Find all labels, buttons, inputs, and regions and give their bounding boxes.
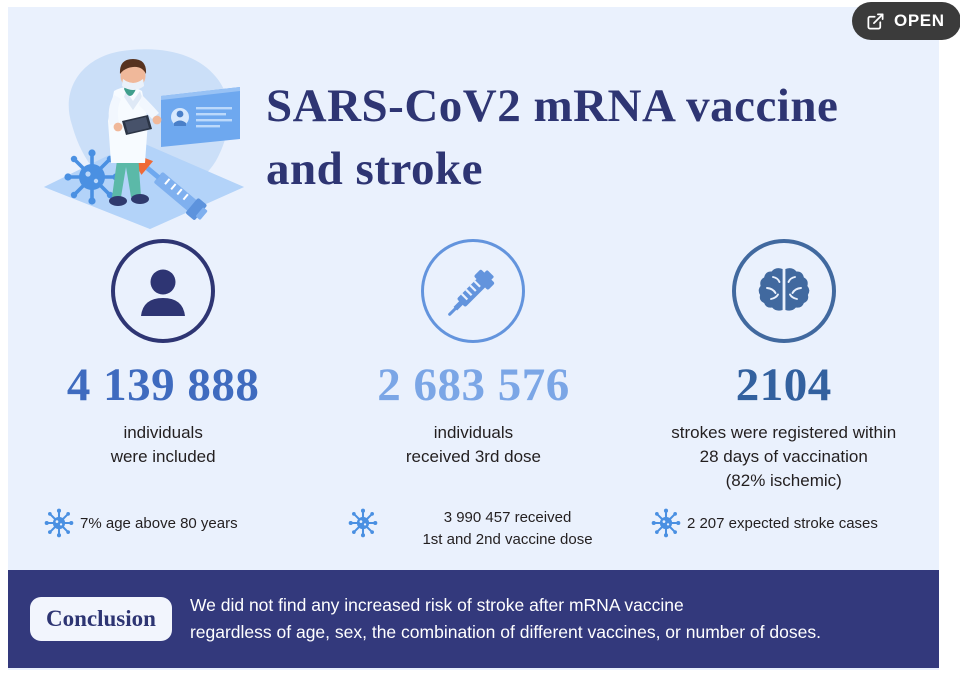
stat-value: 2104 xyxy=(736,362,832,409)
title-line-2: and stroke xyxy=(266,138,926,201)
stat-caption-line-3: (82% ischemic) xyxy=(671,469,896,493)
conclusion-bar: Conclusion We did not find any increased… xyxy=(8,570,939,668)
stat-strokes-registered: 2104 strokes were registered within 28 d… xyxy=(629,239,939,493)
page-title: SARS-CoV2 mRNA vaccine and stroke xyxy=(266,75,926,200)
conclusion-line-1: We did not find any increased risk of st… xyxy=(190,592,821,619)
title-line-1: SARS-CoV2 mRNA vaccine xyxy=(266,75,926,138)
virus-icon xyxy=(651,508,681,538)
footnote-line-1: 7% age above 80 years xyxy=(80,513,238,535)
conclusion-badge: Conclusion xyxy=(30,597,172,640)
footnote-text: 3 990 457 received 1st and 2nd vaccine d… xyxy=(384,507,641,551)
conclusion-line-2: regardless of age, sex, the combination … xyxy=(190,619,821,646)
stat-caption: individuals received 3rd dose xyxy=(406,421,541,469)
doctor-illustration xyxy=(30,29,265,229)
stat-value: 4 139 888 xyxy=(67,362,260,409)
stat-individuals-included: 4 139 888 individuals were included xyxy=(8,239,318,493)
footnote-line-2: 1st and 2nd vaccine dose xyxy=(384,529,631,551)
open-button-label: OPEN xyxy=(894,11,945,31)
footnote-expected-strokes: 2 207 expected stroke cases xyxy=(641,507,939,538)
brain-icon xyxy=(754,261,814,321)
open-button[interactable]: OPEN xyxy=(852,2,960,40)
stat-value: 2 683 576 xyxy=(377,362,570,409)
conclusion-text: We did not find any increased risk of st… xyxy=(190,592,821,646)
stat-caption-line-2: received 3rd dose xyxy=(406,445,541,469)
footnote-line-1: 2 207 expected stroke cases xyxy=(687,513,878,535)
brain-icon-ring xyxy=(732,239,836,343)
infographic-screen: SARS-CoV2 mRNA vaccine and stroke 4 139 … xyxy=(0,0,960,676)
person-icon-ring xyxy=(111,239,215,343)
stat-caption-line-2: were included xyxy=(111,445,216,469)
person-icon xyxy=(132,260,194,322)
footnote-age: 7% age above 80 years xyxy=(8,507,332,538)
footnote-line-1: 3 990 457 received xyxy=(384,507,631,529)
footnote-text: 2 207 expected stroke cases xyxy=(687,507,878,535)
virus-icon xyxy=(348,508,378,538)
stat-caption: individuals were included xyxy=(111,421,216,469)
footnote-text: 7% age above 80 years xyxy=(80,507,238,535)
external-link-icon xyxy=(866,12,885,31)
stat-third-dose: 2 683 576 individuals received 3rd dose xyxy=(318,239,628,493)
stat-caption-line-2: 28 days of vaccination xyxy=(671,445,896,469)
syringe-icon xyxy=(442,260,504,322)
footnotes-row: 7% age above 80 years xyxy=(8,507,939,551)
stat-caption-line-1: strokes were registered within xyxy=(671,421,896,445)
footnote-first-second-dose: 3 990 457 received 1st and 2nd vaccine d… xyxy=(332,507,641,551)
stat-caption-line-1: individuals xyxy=(406,421,541,445)
stat-caption-line-1: individuals xyxy=(111,421,216,445)
virus-icon xyxy=(44,508,74,538)
stats-row: 4 139 888 individuals were included xyxy=(8,239,939,493)
stat-caption: strokes were registered within 28 days o… xyxy=(671,421,896,493)
syringe-icon-ring xyxy=(421,239,525,343)
